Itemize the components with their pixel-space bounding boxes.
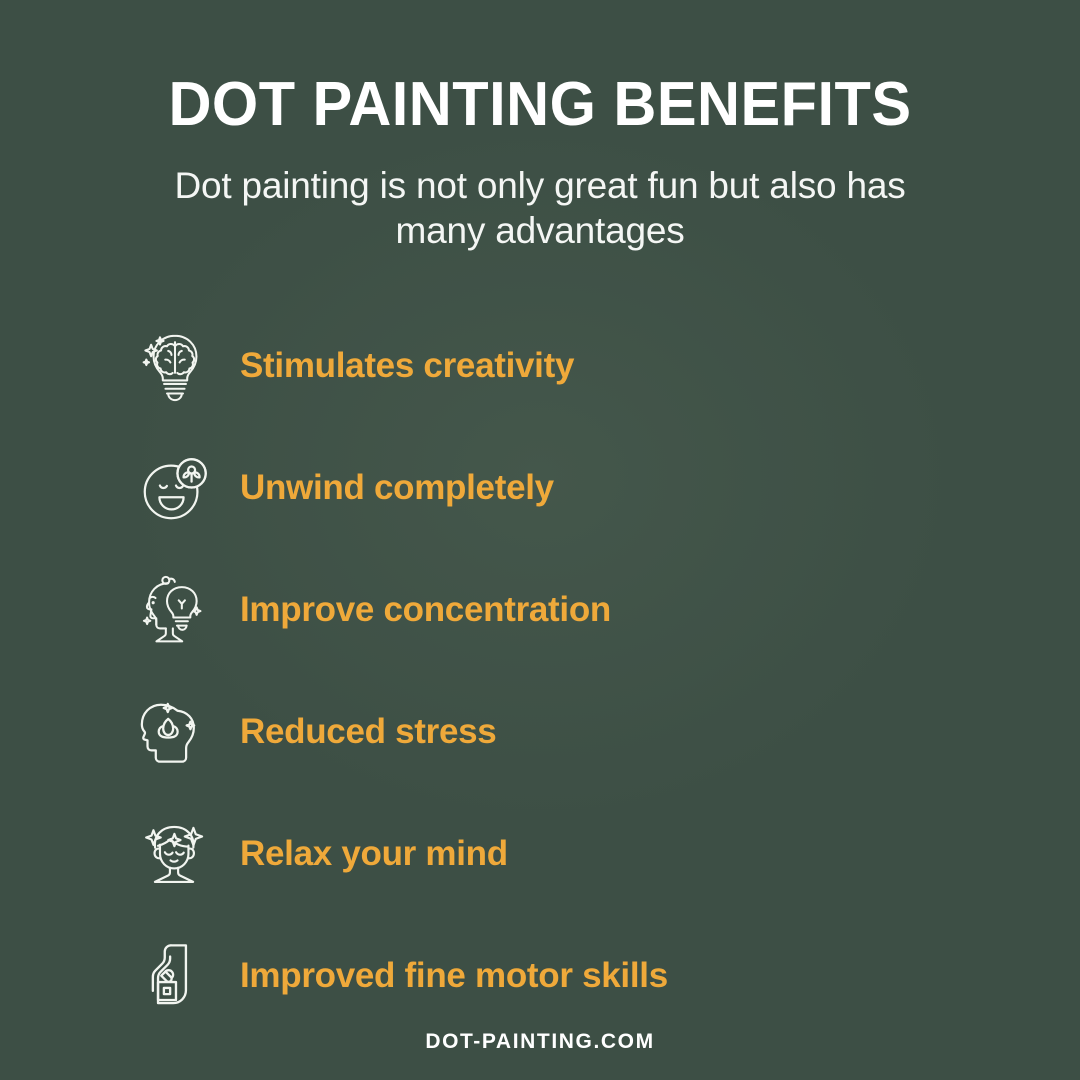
head-profile-lotus-icon <box>136 693 214 771</box>
list-item: Reduced stress <box>136 671 1080 793</box>
list-item-label: Unwind completely <box>240 468 554 508</box>
website-url[interactable]: DOT-PAINTING.COM <box>425 1030 654 1053</box>
list-item: Relax your mind <box>136 793 1080 915</box>
page-subtitle: Dot painting is not only great fun but a… <box>140 163 940 253</box>
page-title: DOT PAINTING BENEFITS <box>22 72 1059 137</box>
footer: DOT-PAINTING.COM <box>0 1030 1080 1054</box>
list-item-label: Relax your mind <box>240 834 508 874</box>
poster-canvas: DOT PAINTING BENEFITS Dot painting is no… <box>0 0 1080 1080</box>
list-item: Unwind completely <box>136 427 1080 549</box>
benefits-list: Stimulates creativity <box>0 305 1080 1037</box>
header-block: DOT PAINTING BENEFITS Dot painting is no… <box>0 0 1080 253</box>
list-item: Improve concentration <box>136 549 1080 671</box>
list-item-label: Stimulates creativity <box>240 346 574 386</box>
lightbulb-brain-sparkle-icon <box>136 327 214 405</box>
list-item: Improved fine motor skills <box>136 915 1080 1037</box>
list-item: Stimulates creativity <box>136 305 1080 427</box>
list-item-label: Improve concentration <box>240 590 611 630</box>
head-profile-lightbulb-icon <box>136 571 214 649</box>
list-item-label: Improved fine motor skills <box>240 956 668 996</box>
list-item-label: Reduced stress <box>240 712 496 752</box>
smiling-face-flower-icon <box>136 449 214 527</box>
calm-woman-sparkles-icon <box>136 815 214 893</box>
hand-holding-object-icon <box>136 937 214 1015</box>
